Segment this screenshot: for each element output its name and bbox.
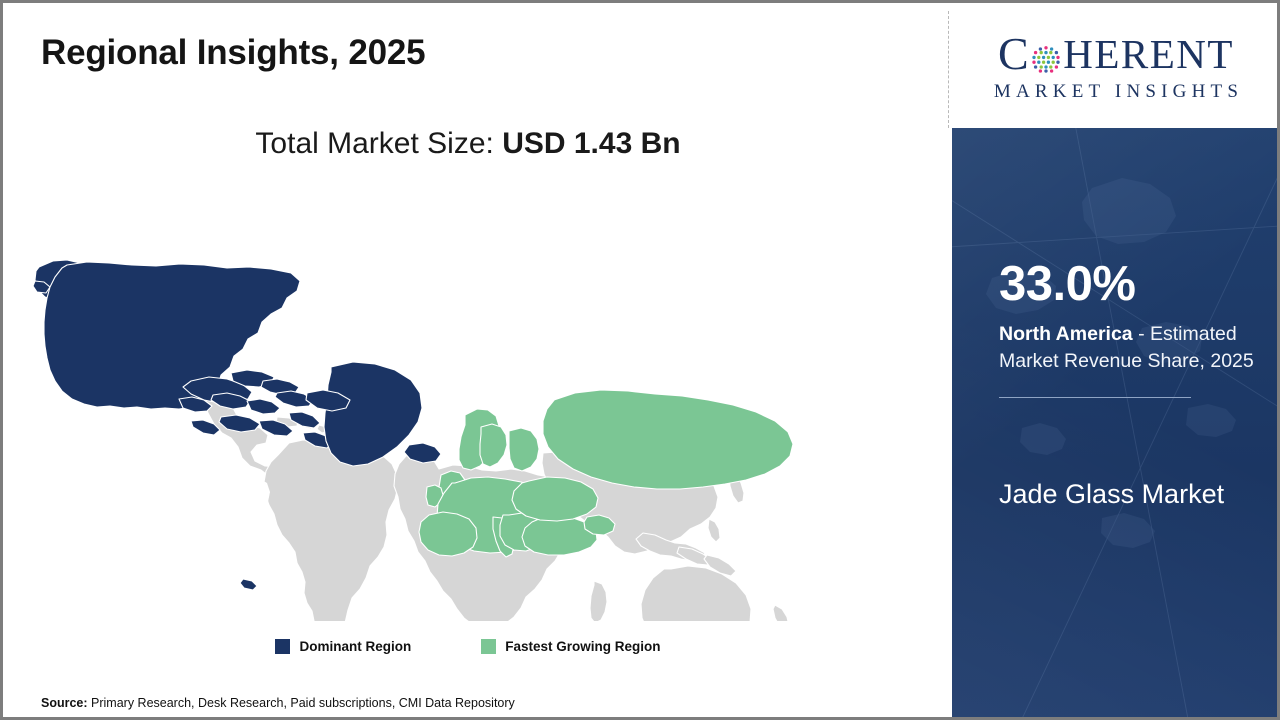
logo-wordmark: C <box>998 31 1234 77</box>
legend-item-dominant: Dominant Region <box>275 639 411 654</box>
logo-tagline: MARKET INSIGHTS <box>989 81 1243 103</box>
world-map-svg <box>31 181 841 621</box>
source-label: Source: <box>41 696 88 710</box>
logo-word: HERENT <box>1063 34 1234 75</box>
total-market-size: Total Market Size: USD 1.43 Bn <box>3 127 933 161</box>
legend-item-fastest-growing: Fastest Growing Region <box>481 639 660 654</box>
page-title: Regional Insights, 2025 <box>41 34 425 73</box>
map-legend: Dominant Region Fastest Growing Region <box>3 639 933 654</box>
stat-description: North America - Estimated Market Revenue… <box>999 321 1267 375</box>
world-map-chart <box>31 181 841 621</box>
legend-label-fastest-growing: Fastest Growing Region <box>505 639 660 654</box>
slide-root: Regional Insights, 2025 Total Market Siz… <box>0 0 1280 720</box>
right-column: C <box>952 6 1280 720</box>
stat-block: 33.0% North America - Estimated Market R… <box>999 260 1267 398</box>
source-note: Source: Primary Research, Desk Research,… <box>41 696 515 710</box>
source-text: Primary Research, Desk Research, Paid su… <box>88 696 515 710</box>
brand-logo: C <box>952 6 1280 128</box>
panel-world-texture <box>952 128 1280 720</box>
stat-region-name: North America <box>999 323 1133 345</box>
stat-divider-rule <box>999 397 1191 398</box>
legend-label-dominant: Dominant Region <box>299 639 411 654</box>
square-swatch-icon <box>275 639 290 654</box>
dotted-globe-icon <box>1030 41 1062 73</box>
vertical-dashed-divider <box>948 11 949 128</box>
market-name: Jade Glass Market <box>999 473 1249 517</box>
square-swatch-icon <box>481 639 496 654</box>
stat-panel: 33.0% North America - Estimated Market R… <box>952 128 1280 720</box>
stat-percentage: 33.0% <box>999 260 1267 309</box>
logo-lead-letter: C <box>998 31 1030 77</box>
market-size-value: USD 1.43 Bn <box>502 127 680 160</box>
market-size-label: Total Market Size: <box>255 127 502 160</box>
main-content-area: Regional Insights, 2025 Total Market Siz… <box>3 3 951 717</box>
